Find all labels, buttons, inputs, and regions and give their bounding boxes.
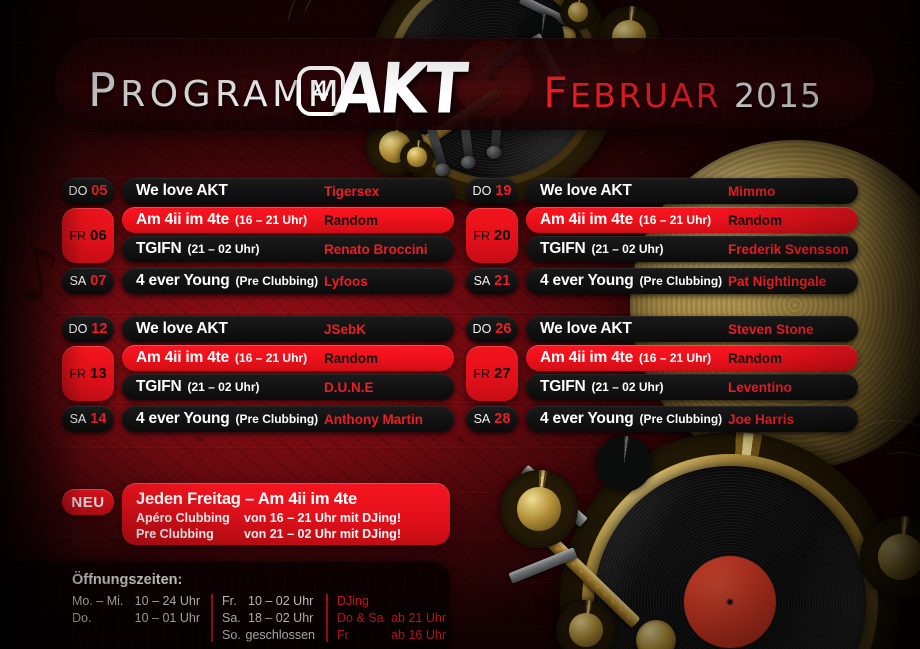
background-vignette <box>0 0 920 649</box>
poster-canvas: ♪ ♪ ♫ ♩ <box>0 0 920 649</box>
